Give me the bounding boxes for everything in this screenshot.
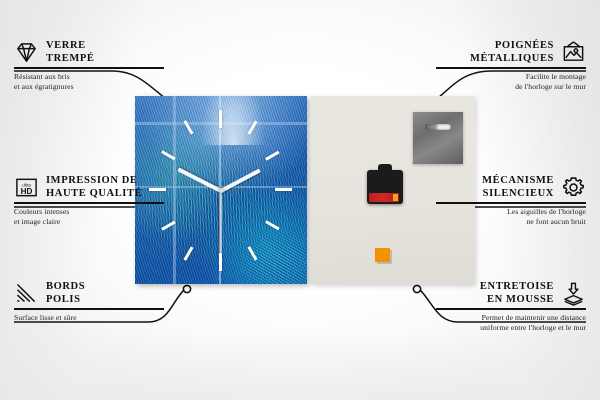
feature-title-line2: EN MOUSSE xyxy=(480,294,554,307)
picture-frame-hanger-icon xyxy=(561,40,586,65)
feature-sub-line1: Surface lisse et sûre xyxy=(14,313,164,323)
battery xyxy=(369,193,399,202)
ultra-hd-icon: ultra HD xyxy=(14,175,39,200)
feature-impression-haute-qualite[interactable]: ultra HD IMPRESSION DE HAUTE QUALITÉ Cou… xyxy=(14,175,164,227)
feature-sub-line2: de l'horloge sur le mur xyxy=(436,82,586,92)
gear-icon xyxy=(561,175,586,200)
feature-divider xyxy=(436,202,586,204)
feature-sub-line1: Couleurs intenses xyxy=(14,207,164,217)
mechanism-hanger-tab xyxy=(378,164,392,171)
clock-mechanism xyxy=(367,170,403,204)
feature-bords-polis[interactable]: BORDS POLIS Surface lisse et sûre xyxy=(14,281,164,323)
foam-spacer xyxy=(375,248,390,262)
feature-header: ENTRETOISE EN MOUSSE xyxy=(436,281,586,306)
feature-divider xyxy=(14,202,164,204)
feature-title-line1: BORDS xyxy=(46,281,85,294)
second-hand xyxy=(220,191,222,253)
feature-title-line1: VERRE xyxy=(46,40,95,53)
feature-divider xyxy=(436,308,586,310)
feature-title-line2: POLIS xyxy=(46,294,85,307)
feature-divider xyxy=(436,67,586,69)
svg-text:HD: HD xyxy=(21,187,33,196)
feature-sub-line2: et image claire xyxy=(14,217,164,227)
feature-title-line2: MÉTALLIQUES xyxy=(470,53,554,66)
feature-title-line2: SILENCIEUX xyxy=(482,188,554,201)
foam-spacer-icon xyxy=(561,281,586,306)
feature-header: VERRE TREMPÉ xyxy=(14,40,164,65)
feature-entretoise-en-mousse[interactable]: ENTRETOISE EN MOUSSE Permet de maintenir… xyxy=(436,281,586,333)
feature-title-line2: HAUTE QUALITÉ xyxy=(46,188,142,201)
product-image xyxy=(135,96,475,284)
hour-tick xyxy=(219,253,222,271)
feature-header: POIGNÉES MÉTALLIQUES xyxy=(436,40,586,65)
diamond-icon xyxy=(14,40,39,65)
polished-edge-icon xyxy=(14,281,39,306)
feature-sub-line2: uniforme entre l'horloge et le mur xyxy=(436,323,586,333)
feature-sub-line1: Les aiguilles de l'horloge xyxy=(436,207,586,217)
feature-divider xyxy=(14,308,164,310)
feature-divider xyxy=(14,67,164,69)
clock-hub xyxy=(219,188,224,193)
hour-tick xyxy=(219,110,222,128)
feature-header: MÉCANISME SILENCIEUX xyxy=(436,175,586,200)
feature-title-line1: IMPRESSION DE xyxy=(46,175,142,188)
connector-endpoint xyxy=(413,285,420,292)
feature-title-line1: POIGNÉES xyxy=(470,40,554,53)
hour-tick xyxy=(275,188,292,191)
feature-title-line1: MÉCANISME xyxy=(482,175,554,188)
feature-sub-line1: Permet de maintenir une distance xyxy=(436,313,586,323)
feature-sub-line1: Facilite le montage xyxy=(436,72,586,82)
infographic-canvas: VERRE TREMPÉ Résistant aux bris et aux é… xyxy=(0,0,600,400)
feature-mecanisme-silencieux[interactable]: MÉCANISME SILENCIEUX Les aiguilles de l'… xyxy=(436,175,586,227)
feature-header: ultra HD IMPRESSION DE HAUTE QUALITÉ xyxy=(14,175,164,200)
connector-endpoint xyxy=(183,285,190,292)
feature-poignees-metalliques[interactable]: POIGNÉES MÉTALLIQUES Facilite le montage… xyxy=(436,40,586,92)
feature-sub-line2: et aux égratignures xyxy=(14,82,164,92)
feature-title-line2: TREMPÉ xyxy=(46,53,95,66)
feature-sub-line1: Résistant aux bris xyxy=(14,72,164,82)
feature-verre-trempe[interactable]: VERRE TREMPÉ Résistant aux bris et aux é… xyxy=(14,40,164,92)
hanger-slot xyxy=(425,124,451,130)
metal-hanger-plate xyxy=(413,112,463,164)
feature-title-line1: ENTRETOISE xyxy=(480,281,554,294)
wave-pattern-cyan xyxy=(212,205,307,284)
feature-header: BORDS POLIS xyxy=(14,281,164,306)
feature-sub-line2: ne font aucun bruit xyxy=(436,217,586,227)
